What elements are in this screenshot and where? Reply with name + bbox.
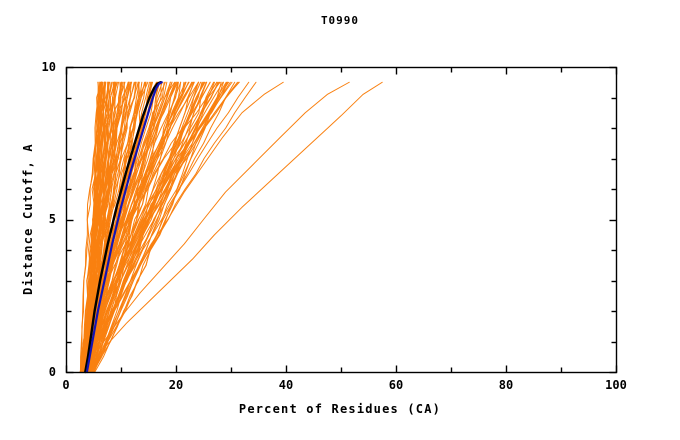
distance-cutoff-plot: T0990 Distance Cutoff, A Percent of Resi… [0,0,680,440]
plot-canvas [0,0,680,440]
curve-layer [80,82,382,372]
